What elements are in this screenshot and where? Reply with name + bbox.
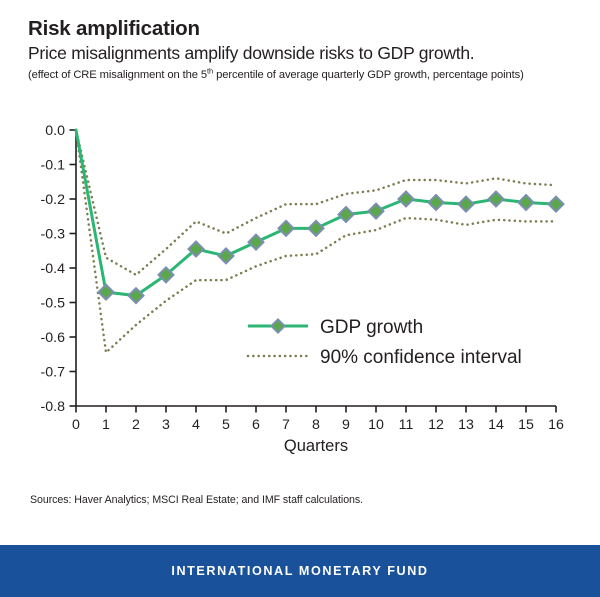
gdp-growth-data-point: [369, 204, 384, 219]
ci-lower-band-line: [76, 130, 556, 353]
x-axis-tick-label: 4: [192, 417, 200, 433]
gdp-growth-data-point: [249, 235, 264, 250]
x-axis-tick-label: 5: [222, 417, 230, 433]
y-axis-tick-label: -0.5: [41, 296, 66, 312]
x-axis-tick-label: 13: [458, 417, 474, 433]
x-axis-tick-label: 1: [102, 417, 110, 433]
imf-footer-label: INTERNATIONAL MONETARY FUND: [171, 564, 428, 578]
x-axis-tick-label: 2: [132, 417, 140, 433]
x-axis-tick-label: 6: [252, 417, 260, 433]
x-axis-tick-label: 3: [162, 417, 170, 433]
imf-chart-page: Risk amplification Price misalignments a…: [0, 0, 600, 597]
x-axis-tick-label: 11: [399, 417, 414, 433]
chart-subtitle: Price misalignments amplify downside ris…: [28, 43, 588, 64]
y-axis-tick-label: -0.7: [41, 365, 66, 381]
x-axis-tick-label: 0: [72, 417, 80, 433]
x-axis-tick-label: 9: [342, 417, 350, 433]
gdp-growth-data-point: [489, 192, 504, 207]
y-axis-tick-label: -0.4: [41, 261, 66, 277]
legend-label-gdp-growth: GDP growth: [320, 317, 423, 338]
units-prefix: (effect of CRE misalignment on the 5: [28, 69, 207, 81]
gdp-growth-data-point: [99, 285, 114, 300]
y-axis-tick-label: -0.8: [41, 399, 66, 415]
x-axis-tick-label: 12: [428, 417, 444, 433]
legend-gdp-growth-marker: [271, 319, 284, 332]
y-axis-tick-label: 0.0: [45, 123, 65, 139]
imf-footer-bar: INTERNATIONAL MONETARY FUND: [0, 545, 600, 597]
y-axis-tick-label: -0.6: [41, 330, 66, 346]
sources-note: Sources: Haver Analytics; MSCI Real Esta…: [30, 494, 363, 506]
gdp-growth-line: [76, 130, 556, 296]
x-axis-tick-label: 14: [488, 417, 504, 433]
x-axis-tick-label: 10: [368, 417, 384, 433]
chart-plot-area: 0.0-0.1-0.2-0.3-0.4-0.5-0.6-0.7-0.801234…: [0, 104, 600, 464]
x-axis-tick-label: 16: [548, 417, 564, 433]
y-axis-tick-label: -0.3: [41, 227, 66, 243]
gdp-growth-data-point: [459, 197, 474, 212]
x-axis-tick-label: 8: [312, 417, 320, 433]
line-chart-svg: 0.0-0.1-0.2-0.3-0.4-0.5-0.6-0.7-0.801234…: [0, 104, 600, 464]
x-axis-tick-label: 15: [518, 417, 534, 433]
x-axis-title: Quarters: [284, 437, 348, 455]
gdp-growth-data-point: [549, 197, 564, 212]
chart-header: Risk amplification Price misalignments a…: [28, 18, 588, 82]
y-axis-tick-label: -0.1: [41, 158, 66, 174]
gdp-growth-data-point: [279, 221, 294, 236]
gdp-growth-data-point: [519, 195, 534, 210]
gdp-growth-data-point: [429, 195, 444, 210]
x-axis-tick-label: 7: [282, 417, 290, 433]
legend-label-confidence-interval: 90% confidence interval: [320, 347, 522, 368]
gdp-growth-data-point: [339, 207, 354, 222]
chart-units-note: (effect of CRE misalignment on the 5th p…: [28, 69, 588, 82]
y-axis-tick-label: -0.2: [41, 192, 66, 208]
units-suffix: percentile of average quarterly GDP grow…: [213, 69, 524, 81]
gdp-growth-data-point: [399, 192, 414, 207]
gdp-growth-data-point: [309, 221, 324, 236]
gdp-growth-data-point: [219, 249, 234, 264]
page-title: Risk amplification: [28, 18, 588, 41]
